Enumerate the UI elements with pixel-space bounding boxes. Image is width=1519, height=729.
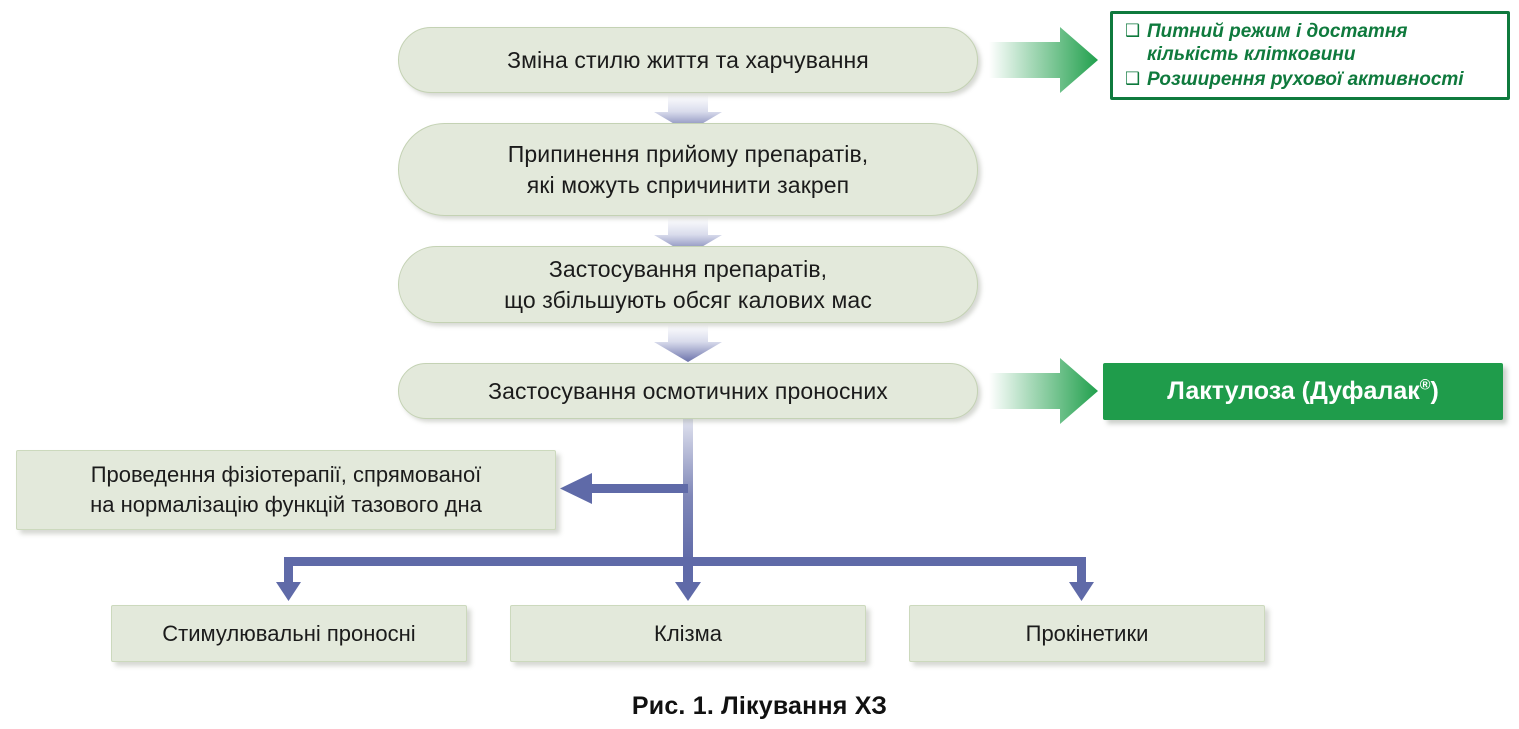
lifestyle-note-callout: ❑ Питний режим і достатня кількість кліт… bbox=[1110, 11, 1510, 100]
checkbox-icon: ❑ bbox=[1125, 68, 1147, 91]
checkbox-icon: ❑ bbox=[1125, 20, 1147, 43]
outcome-prokinetics-label: Прокінетики bbox=[1010, 619, 1165, 649]
registered-trademark-icon: ® bbox=[1420, 378, 1431, 394]
connector-green-arrow-note bbox=[989, 27, 1098, 93]
step-physiotherapy-label: Проведення фізіотерапії, спрямованої на … bbox=[74, 460, 498, 520]
step-stop-drugs[interactable]: Припинення прийому препаратів, які можут… bbox=[398, 123, 978, 216]
step-bulking-agents[interactable]: Застосування препаратів, що збільшують о… bbox=[398, 246, 978, 323]
outcome-prokinetics[interactable]: Прокінетики bbox=[909, 605, 1265, 662]
outcome-enema-label: Клізма bbox=[638, 619, 738, 649]
note-item: ❑ Розширення рухової активності bbox=[1125, 68, 1495, 91]
step-physiotherapy[interactable]: Проведення фізіотерапії, спрямованої на … bbox=[16, 450, 556, 530]
outcome-stimulant-laxatives[interactable]: Стимулювальні проносні bbox=[111, 605, 467, 662]
product-lactulose-box[interactable]: Лактулоза (Дуфалак®) bbox=[1103, 363, 1503, 420]
step-osmotic-laxatives[interactable]: Застосування осмотичних проносних bbox=[398, 363, 978, 419]
figure-canvas: Зміна стилю життя та харчування Припинен… bbox=[0, 0, 1519, 729]
step-lifestyle-label: Зміна стилю життя та харчування bbox=[481, 45, 895, 75]
connector-distribution-bar bbox=[276, 557, 1094, 601]
product-label: Лактулоза (Дуфалак®) bbox=[1167, 377, 1439, 406]
note-item: ❑ Питний режим і достатня кількість кліт… bbox=[1125, 20, 1495, 66]
connector-trunk bbox=[683, 416, 693, 562]
step-stop-drugs-label: Припинення прийому препаратів, які можут… bbox=[482, 139, 895, 200]
connector-arrow-physiotherapy bbox=[560, 473, 688, 504]
figure-caption: Рис. 1. Лікування ХЗ bbox=[0, 692, 1519, 721]
step-bulking-agents-label: Застосування препаратів, що збільшують о… bbox=[478, 254, 898, 315]
outcome-enema[interactable]: Клізма bbox=[510, 605, 866, 662]
connector-arrow-step3-step4 bbox=[654, 325, 722, 362]
step-osmotic-laxatives-label: Застосування осмотичних проносних bbox=[462, 376, 914, 406]
connector-green-arrow-product bbox=[989, 358, 1098, 424]
outcome-stimulant-laxatives-label: Стимулювальні проносні bbox=[146, 619, 431, 649]
step-lifestyle[interactable]: Зміна стилю життя та харчування bbox=[398, 27, 978, 93]
